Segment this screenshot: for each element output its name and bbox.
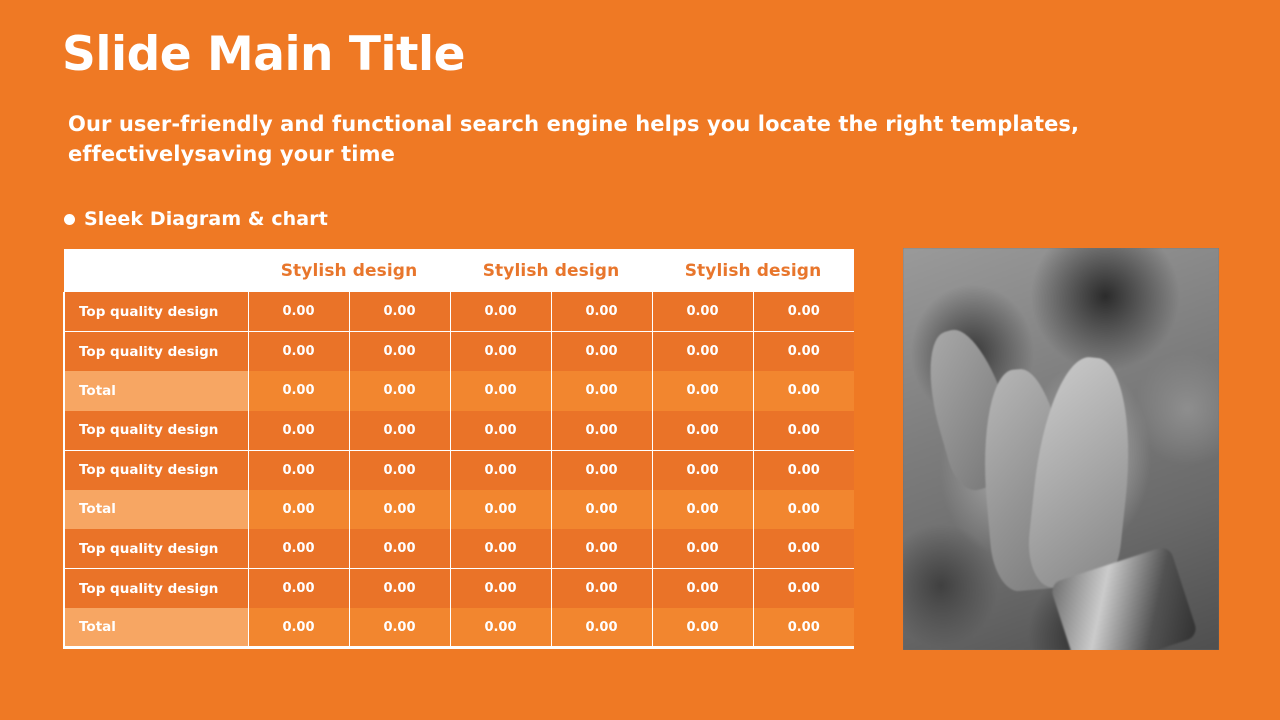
table-header: Stylish designStylish designStylish desi… <box>64 249 854 292</box>
table-cell-value: 0.00 <box>248 569 349 609</box>
table-row-label: Total <box>64 371 248 411</box>
table-cell-value: 0.00 <box>349 292 450 332</box>
table-cell-value: 0.00 <box>753 529 854 569</box>
table-row: Top quality design0.000.000.000.000.000.… <box>64 569 854 609</box>
table-cell-value: 0.00 <box>248 450 349 490</box>
table-cell-value: 0.00 <box>349 569 450 609</box>
table-cell-value: 0.00 <box>652 608 753 648</box>
table-cell-value: 0.00 <box>753 450 854 490</box>
table-cell-value: 0.00 <box>248 411 349 451</box>
table-cell-value: 0.00 <box>652 569 753 609</box>
table-cell-value: 0.00 <box>349 411 450 451</box>
table-column-header: Stylish design <box>248 249 450 292</box>
table-cell-value: 0.00 <box>551 608 652 648</box>
table-cell-value: 0.00 <box>551 450 652 490</box>
section-heading-label: Sleek Diagram & chart <box>84 208 328 230</box>
table-cell-value: 0.00 <box>551 292 652 332</box>
table-cell-value: 0.00 <box>248 332 349 372</box>
table-cell-value: 0.00 <box>349 371 450 411</box>
table-cell-value: 0.00 <box>248 529 349 569</box>
table-cell-value: 0.00 <box>551 529 652 569</box>
table-cell-value: 0.00 <box>248 371 349 411</box>
table-row: Total0.000.000.000.000.000.00 <box>64 371 854 411</box>
applause-photo <box>903 248 1219 650</box>
table-cell-value: 0.00 <box>652 371 753 411</box>
table-row: Total0.000.000.000.000.000.00 <box>64 608 854 648</box>
slide-title: Slide Main Title <box>62 30 465 79</box>
table-row-label: Top quality design <box>64 332 248 372</box>
table-row: Top quality design0.000.000.000.000.000.… <box>64 292 854 332</box>
bullet-point-icon <box>64 214 75 225</box>
table-cell-value: 0.00 <box>753 411 854 451</box>
table-cell-value: 0.00 <box>753 332 854 372</box>
table-cell-value: 0.00 <box>450 450 551 490</box>
table-row: Total0.000.000.000.000.000.00 <box>64 490 854 530</box>
table-cell-value: 0.00 <box>551 371 652 411</box>
table-cell-value: 0.00 <box>551 411 652 451</box>
table-row-label: Top quality design <box>64 411 248 451</box>
table-cell-value: 0.00 <box>349 529 450 569</box>
table-row: Top quality design0.000.000.000.000.000.… <box>64 529 854 569</box>
table-cell-value: 0.00 <box>652 292 753 332</box>
table-row: Top quality design0.000.000.000.000.000.… <box>64 411 854 451</box>
table-cell-value: 0.00 <box>652 450 753 490</box>
table-cell-value: 0.00 <box>551 332 652 372</box>
table-row: Top quality design0.000.000.000.000.000.… <box>64 332 854 372</box>
table-row-label: Total <box>64 490 248 530</box>
table-cell-value: 0.00 <box>753 371 854 411</box>
table-cell-value: 0.00 <box>450 490 551 530</box>
table-cell-value: 0.00 <box>248 292 349 332</box>
table-row-label: Top quality design <box>64 529 248 569</box>
table-header-blank <box>64 249 248 292</box>
table-cell-value: 0.00 <box>349 608 450 648</box>
table-cell-value: 0.00 <box>349 332 450 372</box>
table-row-label: Top quality design <box>64 450 248 490</box>
table-cell-value: 0.00 <box>652 490 753 530</box>
table-cell-value: 0.00 <box>248 490 349 530</box>
table-cell-value: 0.00 <box>753 569 854 609</box>
table-cell-value: 0.00 <box>551 569 652 609</box>
table-row-label: Top quality design <box>64 569 248 609</box>
table-cell-value: 0.00 <box>450 608 551 648</box>
table-cell-value: 0.00 <box>652 529 753 569</box>
table-cell-value: 0.00 <box>652 332 753 372</box>
table-body: Top quality design0.000.000.000.000.000.… <box>64 292 854 648</box>
table-cell-value: 0.00 <box>450 411 551 451</box>
table-row-label: Total <box>64 608 248 648</box>
table-header-row: Stylish designStylish designStylish desi… <box>64 249 854 292</box>
data-table: Stylish designStylish designStylish desi… <box>63 249 854 649</box>
table-cell-value: 0.00 <box>551 490 652 530</box>
table-row: Top quality design0.000.000.000.000.000.… <box>64 450 854 490</box>
table-cell-value: 0.00 <box>753 490 854 530</box>
slide-subtitle: Our user-friendly and functional search … <box>68 110 1158 170</box>
table-cell-value: 0.00 <box>248 608 349 648</box>
table-cell-value: 0.00 <box>450 371 551 411</box>
table-cell-value: 0.00 <box>753 292 854 332</box>
table-cell-value: 0.00 <box>349 450 450 490</box>
table-cell-value: 0.00 <box>652 411 753 451</box>
section-heading: Sleek Diagram & chart <box>64 208 328 230</box>
table-column-header: Stylish design <box>450 249 652 292</box>
table-cell-value: 0.00 <box>753 608 854 648</box>
table-cell-value: 0.00 <box>450 569 551 609</box>
table-cell-value: 0.00 <box>450 332 551 372</box>
photo-panel <box>903 248 1219 650</box>
table-cell-value: 0.00 <box>349 490 450 530</box>
table-row-label: Top quality design <box>64 292 248 332</box>
table-column-header: Stylish design <box>652 249 854 292</box>
table-cell-value: 0.00 <box>450 292 551 332</box>
table-cell-value: 0.00 <box>450 529 551 569</box>
